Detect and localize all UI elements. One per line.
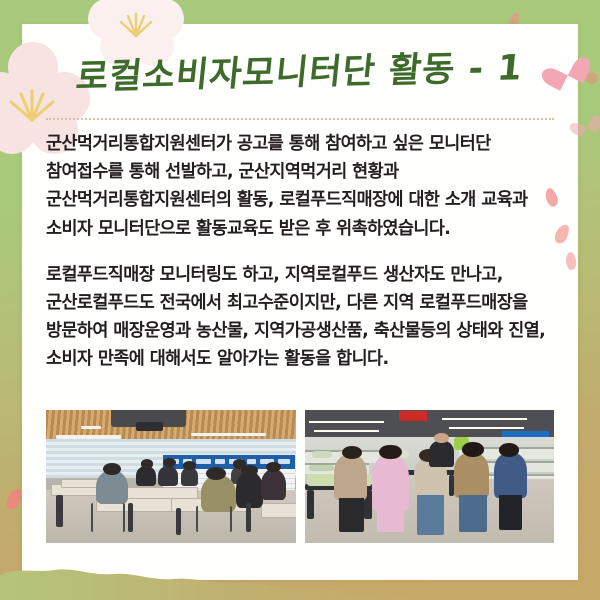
person-speaker [429, 441, 454, 468]
person [158, 466, 178, 486]
ceiling-lamp [442, 418, 527, 420]
person [96, 470, 128, 505]
person [372, 455, 409, 511]
promo-card: 로컬소비자모니터단 활동 - 1 군산먹거리통합지원센터가 공고를 통해 참여하… [0, 0, 600, 600]
person-legs [417, 495, 444, 535]
person-head [103, 463, 120, 475]
photo-strip [46, 410, 554, 543]
produce [309, 465, 334, 472]
person [334, 455, 366, 500]
ceiling-lamp [81, 426, 101, 429]
display-bin [307, 490, 314, 519]
petal-decor [155, 578, 178, 600]
chair [91, 503, 125, 532]
person-head [379, 445, 401, 460]
person-legs [339, 498, 364, 533]
ceiling-lamp [449, 427, 524, 429]
ceiling-lamp [314, 430, 379, 432]
person-head [266, 462, 281, 473]
chair [128, 503, 133, 532]
produce [312, 451, 332, 458]
ceiling-lamp [56, 435, 121, 438]
chair [56, 495, 63, 527]
body-copy: 군산먹거리통합지원센터가 공고를 통해 참여하고 싶은 모니터단 참여접수를 통… [46, 130, 554, 374]
petal-decor [256, 585, 272, 600]
chair [176, 508, 181, 535]
person [454, 453, 489, 498]
person [136, 466, 156, 486]
photo-local-food-store [305, 410, 555, 543]
person-legs [499, 495, 521, 530]
person-head [499, 443, 519, 456]
dotted-divider [46, 118, 554, 120]
person-head [462, 442, 484, 457]
chair [196, 506, 232, 533]
person-head [141, 459, 153, 468]
person-head [183, 461, 195, 470]
person-head [342, 446, 362, 459]
paragraph: 군산먹거리통합지원센터가 공고를 통해 참여하고 싶은 모니터단 참여접수를 통… [46, 130, 554, 243]
paragraph: 로컬푸드직매장 모니터링도 하고, 지역로컬푸드 생산자도 만나고, 군산로컬푸… [46, 261, 554, 374]
person [181, 467, 198, 486]
person [494, 453, 526, 498]
title-block: 로컬소비자모니터단 활동 - 1 [22, 44, 578, 95]
chair [246, 503, 251, 532]
person-head [163, 458, 175, 467]
projector-icon [136, 422, 163, 431]
ceiling-lamp [309, 421, 384, 423]
petal-decor [4, 487, 23, 512]
photo-meeting-room [46, 410, 296, 543]
table [261, 503, 296, 518]
person-legs [459, 495, 486, 532]
store-sign-red [399, 411, 426, 420]
page-title: 로컬소비자모니터단 활동 - 1 [74, 39, 526, 99]
person-legs [377, 508, 404, 532]
person [261, 469, 286, 501]
ceiling-lamp [191, 433, 266, 436]
